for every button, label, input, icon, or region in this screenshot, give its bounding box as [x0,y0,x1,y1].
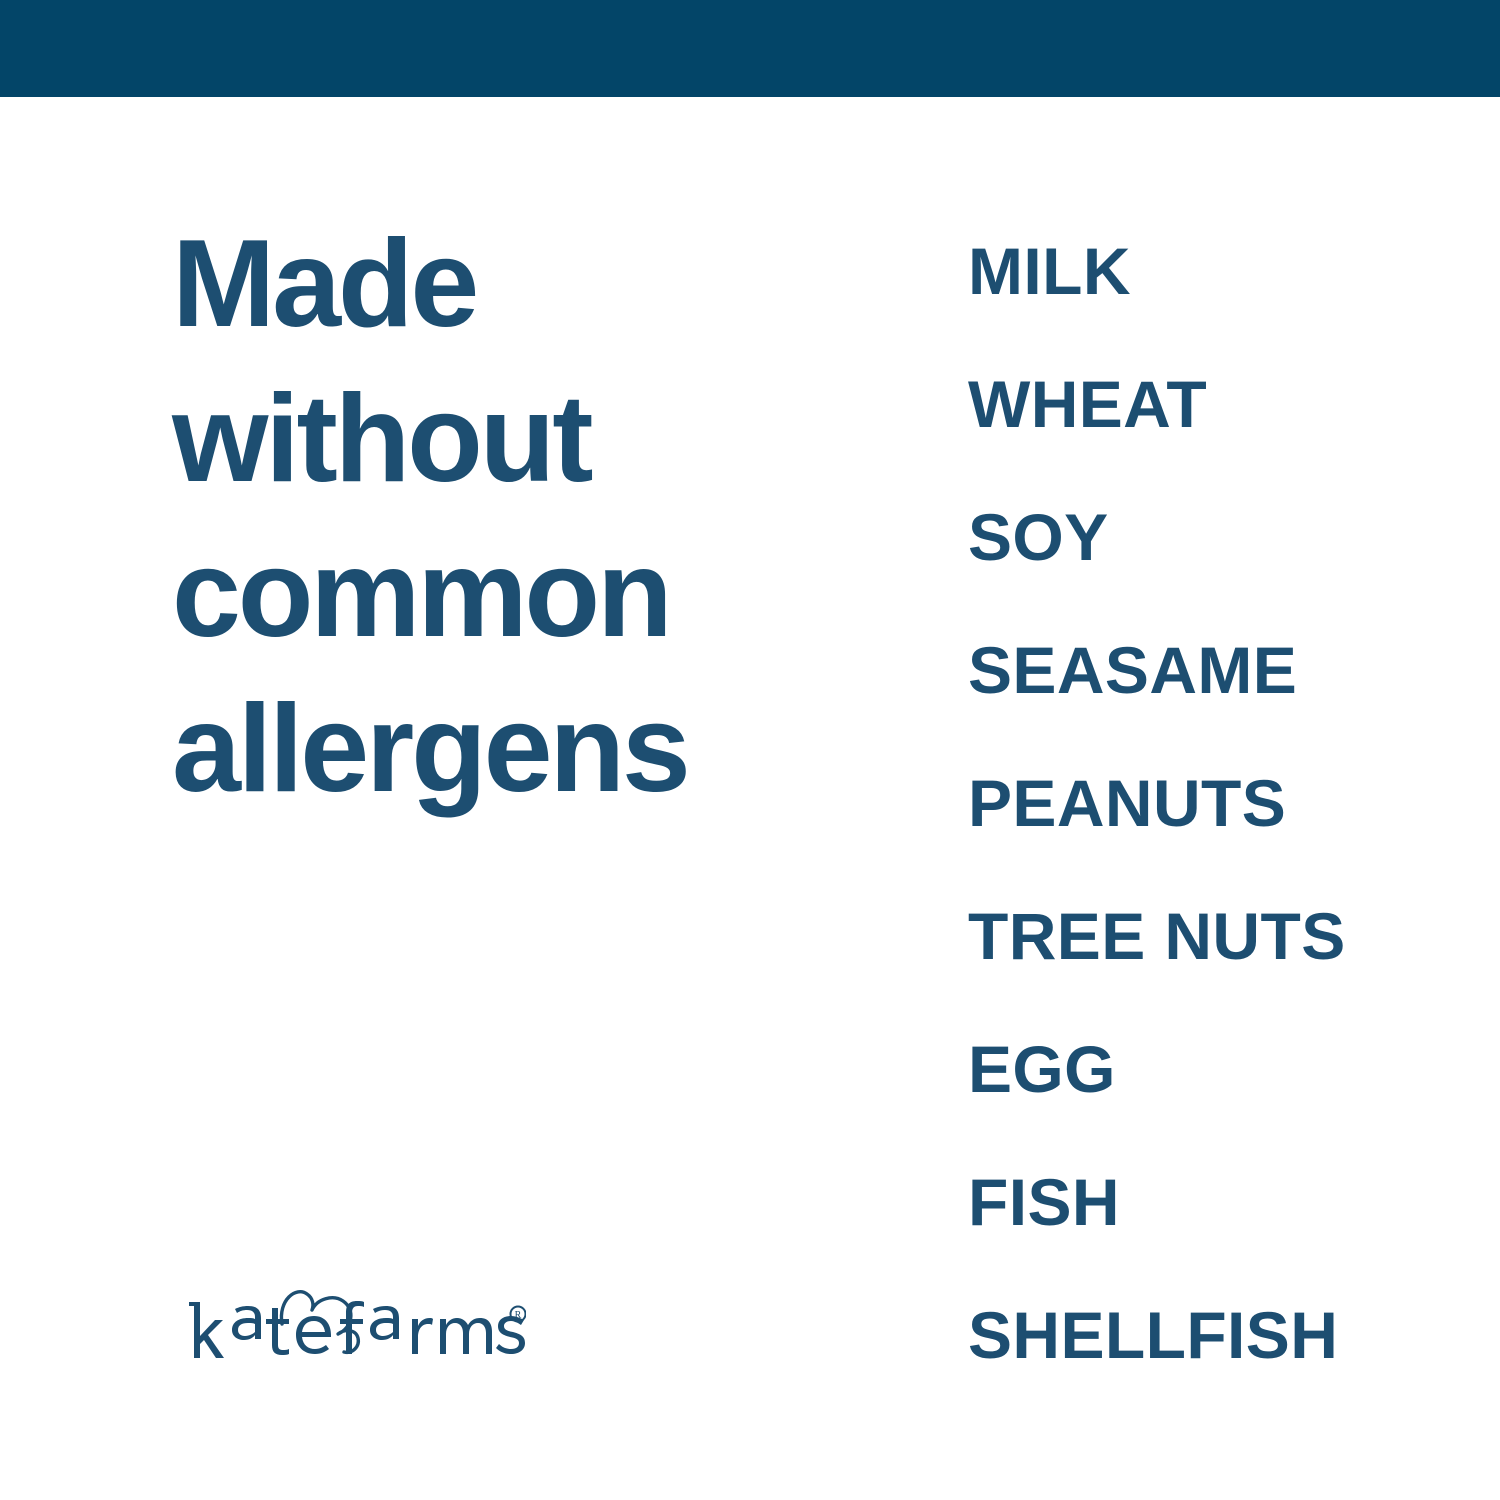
brand-logo: R [186,1272,526,1382]
allergen-item: SEASAME [968,604,1346,737]
right-column: MILK WHEAT SOY SEASAME PEANUTS TREE NUTS… [968,97,1428,1500]
allergen-item: MILK [968,205,1346,338]
top-banner-bar [0,0,1500,97]
headline-line-3: common [172,517,832,672]
headline: Made without common allergens [172,207,832,827]
svg-text:R: R [515,1310,522,1321]
allergen-item: FISH [968,1136,1346,1269]
headline-line-2: without [172,362,832,517]
allergen-item: WHEAT [968,338,1346,471]
headline-line-4: allergens [172,672,832,827]
allergen-info-poster: Made without common allergens [0,0,1500,1500]
allergen-item: EGG [968,1003,1346,1136]
allergen-list: MILK WHEAT SOY SEASAME PEANUTS TREE NUTS… [968,205,1346,1402]
left-column: Made without common allergens [172,97,832,1500]
katefarms-logo-svg: R [186,1272,526,1382]
poster-content: Made without common allergens [0,97,1500,1500]
allergen-item: TREE NUTS [968,870,1346,1003]
headline-line-1: Made [172,207,832,362]
allergen-item: SHELLFISH [968,1269,1346,1402]
katefarms-wordmark [189,1301,525,1358]
allergen-item: PEANUTS [968,737,1346,870]
registered-trademark-icon: R [511,1307,526,1322]
allergen-item: SOY [968,471,1346,604]
